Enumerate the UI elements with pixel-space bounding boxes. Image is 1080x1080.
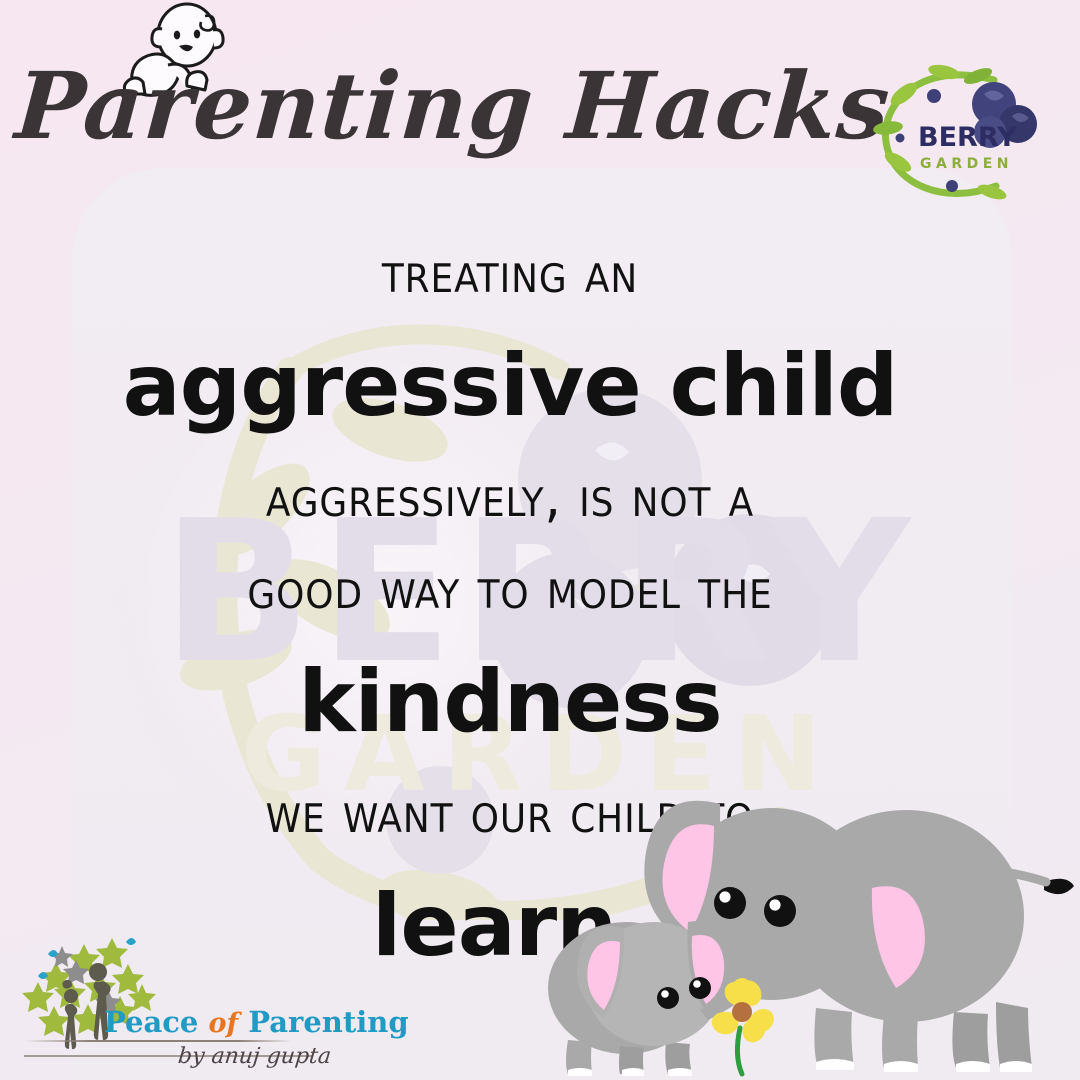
logo-text-berry: BERRY: [918, 122, 1017, 153]
pop-word-parenting: Parenting: [248, 1005, 408, 1039]
mother-left-eye: [714, 887, 746, 919]
baby-tail-tuft: [534, 945, 536, 955]
elephant-illustration: [534, 776, 1080, 1080]
quote-line-3: aggressively, is not a: [41, 452, 979, 544]
quote-line-4: good way to model the: [41, 544, 979, 636]
pop-wordmark: Peace of Parenting: [104, 1005, 409, 1039]
baby-right-eye: [689, 977, 711, 999]
logo-text-garden: GARDEN: [920, 156, 1013, 172]
quote-line-5: kindness: [0, 636, 1020, 768]
pop-word-peace: Peace: [104, 1005, 198, 1039]
baby-left-eye: [657, 987, 679, 1009]
quote-line-2: aggressive child: [0, 320, 1020, 452]
pop-word-of: of: [209, 1008, 239, 1039]
parenting-hacks-poster: BERRY GARDEN Parenting Hacks: [0, 0, 1080, 1080]
berry-garden-logo[interactable]: BERRY GARDEN: [872, 58, 1042, 208]
page-title: Parenting Hacks: [12, 52, 894, 160]
pop-divider: [24, 1040, 292, 1042]
quote-line-1: Treating an: [41, 228, 979, 320]
pop-byline: by anuj gupta: [177, 1044, 333, 1069]
mother-right-eye: [764, 895, 796, 927]
